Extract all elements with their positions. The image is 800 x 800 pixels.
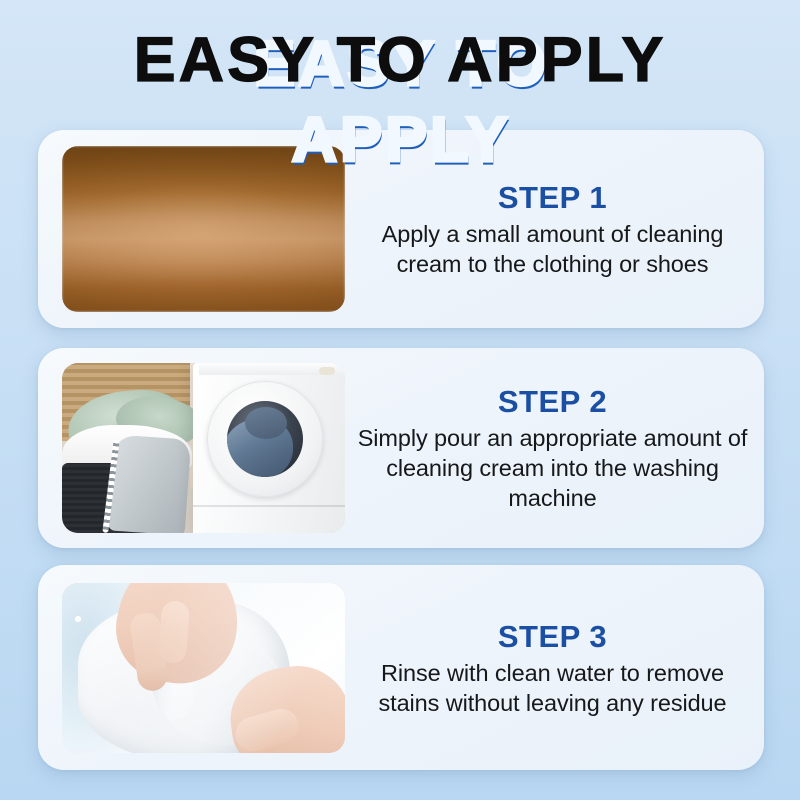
washing-machine-seam	[193, 505, 345, 507]
step-1-heading: STEP 1	[355, 179, 750, 217]
step-card-3: STEP 3 Rinse with clean water to remove …	[38, 565, 764, 770]
step-2-image	[62, 363, 345, 533]
step-2-description: Simply pour an appropriate amount of cle…	[355, 423, 750, 513]
washing-machine-body	[193, 363, 345, 533]
step-3-text-block: STEP 3 Rinse with clean water to remove …	[345, 618, 764, 718]
step-3-description: Rinse with clean water to remove stains …	[355, 658, 750, 718]
step-1-description: Apply a small amount of cleaning cream t…	[355, 219, 750, 279]
image-sheen-overlay	[62, 583, 345, 753]
washing-machine-knob	[319, 367, 335, 375]
page-title: EASY TO APPLY EASY TO APPLY EASY TO APPL…	[134, 22, 667, 98]
drum-clothes-highlight	[245, 407, 287, 439]
grey-towel-shape	[107, 434, 192, 533]
washing-machine-with-laundry-photo	[62, 363, 345, 533]
step-card-2: STEP 2 Simply pour an appropriate amount…	[38, 348, 764, 548]
page-title-text: EASY TO APPLY	[134, 25, 667, 95]
step-3-heading: STEP 3	[355, 618, 750, 656]
step-2-text-block: STEP 2 Simply pour an appropriate amount…	[345, 383, 764, 513]
step-1-text-block: STEP 1 Apply a small amount of cleaning …	[345, 179, 764, 279]
washing-machine-drum-glass	[227, 401, 303, 477]
step-2-heading: STEP 2	[355, 383, 750, 421]
page-header: EASY TO APPLY EASY TO APPLY EASY TO APPL…	[0, 22, 800, 108]
hands-rinsing-white-garment-photo	[62, 583, 345, 753]
washing-machine-door-ring	[207, 381, 323, 497]
step-3-image	[62, 583, 345, 753]
